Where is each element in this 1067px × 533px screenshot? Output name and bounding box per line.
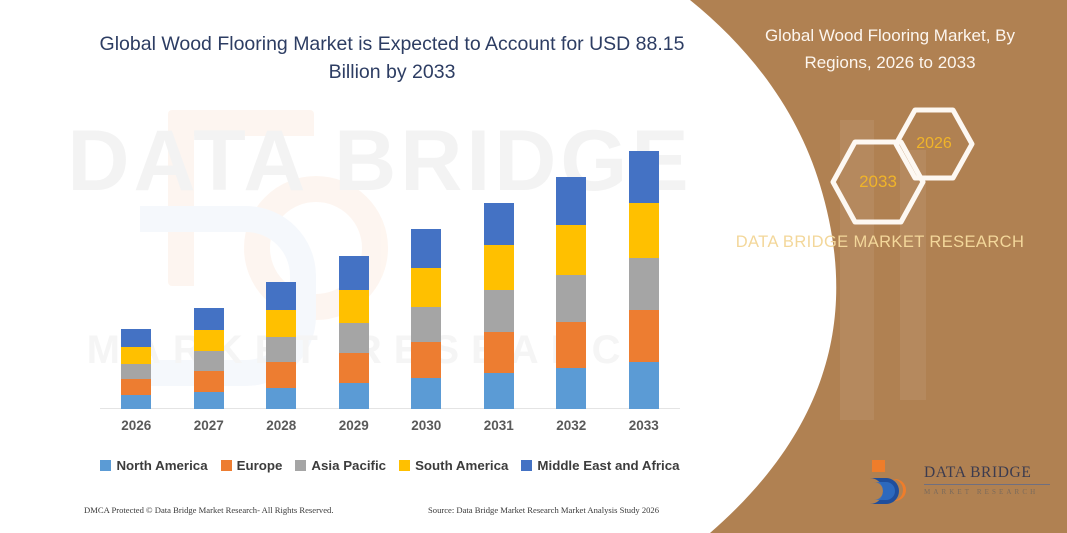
legend-label: Middle East and Africa <box>537 458 679 473</box>
legend-swatch-icon <box>100 460 111 471</box>
bar-segment <box>411 307 441 342</box>
bar-stack <box>411 229 441 409</box>
bar-segment <box>556 368 586 409</box>
bar-stack <box>556 177 586 409</box>
legend-label: Europe <box>237 458 283 473</box>
bar-segment <box>121 395 151 409</box>
legend-label: North America <box>116 458 207 473</box>
legend-item[interactable]: South America <box>399 458 508 473</box>
chart-title: Global Wood Flooring Market is Expected … <box>92 30 692 86</box>
legend-label: South America <box>415 458 508 473</box>
data-bridge-logo-words: DATA BRIDGE MARKET RESEARCH <box>924 464 1058 497</box>
bar-segment <box>629 258 659 310</box>
bar-segment <box>194 308 224 330</box>
bar-segment <box>629 310 659 362</box>
footer: DMCA Protected © Data Bridge Market Rese… <box>0 505 720 525</box>
bar-segment <box>339 353 369 383</box>
bar-segment <box>629 362 659 409</box>
x-axis-label: 2032 <box>541 418 601 433</box>
bar-segment <box>194 330 224 351</box>
stacked-bar-chart <box>100 120 680 409</box>
bar-segment <box>484 245 514 290</box>
x-axis-label: 2027 <box>179 418 239 433</box>
hexagon-badge-2026: 2026 <box>892 106 976 182</box>
bar-segment <box>484 290 514 332</box>
bar-segment <box>121 379 151 395</box>
data-bridge-logo: DATA BRIDGE MARKET RESEARCH <box>868 458 1058 510</box>
legend-swatch-icon <box>295 460 306 471</box>
bar-segment <box>266 388 296 409</box>
bar-segment <box>194 351 224 371</box>
bar-segment <box>556 225 586 275</box>
bar-segment <box>194 371 224 392</box>
bar-stack <box>629 151 659 409</box>
brand-panel: Global Wood Flooring Market, By Regions,… <box>690 0 1067 533</box>
brand-name: DATA BRIDGE MARKET RESEARCH <box>720 228 1040 257</box>
bar-segment <box>121 329 151 347</box>
bar-segment <box>339 323 369 353</box>
bar-segment <box>556 322 586 368</box>
legend-item[interactable]: Asia Pacific <box>295 458 386 473</box>
footer-copyright: DMCA Protected © Data Bridge Market Rese… <box>84 505 334 515</box>
panel-title: Global Wood Flooring Market, By Regions,… <box>735 22 1045 76</box>
legend-label: Asia Pacific <box>311 458 386 473</box>
logo-subtitle: MARKET RESEARCH <box>924 487 1058 497</box>
legend-item[interactable]: Middle East and Africa <box>521 458 679 473</box>
data-bridge-logo-mark <box>868 458 918 504</box>
x-axis-label: 2026 <box>106 418 166 433</box>
bar-segment <box>411 378 441 409</box>
logo-divider <box>924 484 1050 485</box>
bar-segment <box>484 373 514 409</box>
bar-stack <box>194 308 224 409</box>
bar-stack <box>121 329 151 409</box>
chart-panel: DATA BRIDGE MARKET RESEARCH Global Wood … <box>0 0 760 533</box>
bar-segment <box>339 290 369 323</box>
x-axis-label: 2030 <box>396 418 456 433</box>
bar-segment <box>556 275 586 322</box>
bar-segment <box>629 203 659 258</box>
bar-segment <box>484 203 514 245</box>
legend-item[interactable]: North America <box>100 458 207 473</box>
chart-baseline <box>100 408 680 409</box>
bar-segment <box>266 282 296 310</box>
legend-swatch-icon <box>221 460 232 471</box>
bar-segment <box>266 337 296 362</box>
bar-segment <box>484 332 514 373</box>
bar-segment <box>266 362 296 388</box>
logo-title: DATA BRIDGE <box>924 464 1058 482</box>
bar-segment <box>629 151 659 203</box>
bar-segment <box>556 177 586 225</box>
x-axis-label: 2029 <box>324 418 384 433</box>
bar-stack <box>266 282 296 409</box>
bar-segment <box>339 256 369 290</box>
bar-segment <box>121 347 151 364</box>
bar-stack <box>484 203 514 409</box>
x-axis-label: 2031 <box>469 418 529 433</box>
bar-segment <box>411 268 441 307</box>
infographic-canvas: DATA BRIDGE MARKET RESEARCH Global Wood … <box>0 0 1067 533</box>
bar-segment <box>411 229 441 268</box>
x-axis-label: 2033 <box>614 418 674 433</box>
bar-segment <box>411 342 441 378</box>
x-axis-tick-labels: 20262027202820292030203120322033 <box>100 418 680 440</box>
chart-legend: North AmericaEuropeAsia PacificSouth Ame… <box>100 455 680 475</box>
legend-item[interactable]: Europe <box>221 458 283 473</box>
hexagon-badge-2026-label: 2026 <box>892 106 976 182</box>
legend-swatch-icon <box>399 460 410 471</box>
footer-source: Source: Data Bridge Market Research Mark… <box>428 505 659 515</box>
bar-segment <box>266 310 296 337</box>
bar-stack <box>339 256 369 409</box>
bar-segment <box>194 392 224 409</box>
bar-segment <box>121 364 151 379</box>
x-axis-label: 2028 <box>251 418 311 433</box>
bar-segment <box>339 383 369 409</box>
brand-panel-content: Global Wood Flooring Market, By Regions,… <box>690 0 1067 533</box>
legend-swatch-icon <box>521 460 532 471</box>
